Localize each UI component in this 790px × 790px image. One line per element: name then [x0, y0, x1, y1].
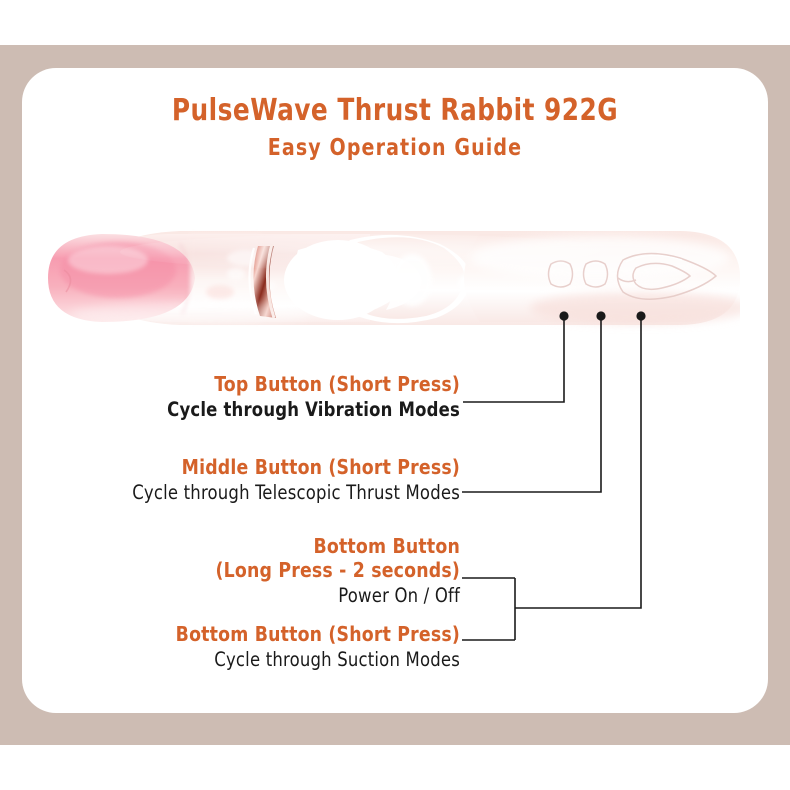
callout-middle-heading: Middle Button (Short Press)	[65, 455, 460, 479]
callout-top-button: Top Button (Short Press) Cycle through V…	[40, 372, 460, 422]
callout-top-heading: Top Button (Short Press)	[65, 372, 460, 396]
callout-middle-description: Cycle through Telescopic Thrust Modes	[65, 481, 460, 504]
callout-bottom-long-heading-line1: Bottom Button	[65, 534, 460, 558]
page-subtitle: Easy Operation Guide	[32, 137, 759, 160]
title-block: PulseWave Thrust Rabbit 922G Easy Operat…	[0, 96, 790, 160]
callout-middle-button: Middle Button (Short Press) Cycle throug…	[40, 455, 460, 505]
callout-bottom-long-description: Power On / Off	[65, 584, 460, 607]
page-title: PulseWave Thrust Rabbit 922G	[32, 96, 759, 126]
callout-top-description: Cycle through Vibration Modes	[65, 398, 460, 421]
callout-bottom-short-description: Cycle through Suction Modes	[65, 648, 460, 671]
callout-bottom-long-press: Bottom Button (Long Press - 2 seconds) P…	[40, 534, 460, 608]
callout-bottom-short-press: Bottom Button (Short Press) Cycle throug…	[40, 622, 460, 672]
callout-bottom-long-heading-line2: (Long Press - 2 seconds)	[65, 558, 460, 582]
product-image	[40, 218, 740, 338]
product-illustration	[40, 218, 740, 338]
callout-bottom-short-heading: Bottom Button (Short Press)	[65, 622, 460, 646]
